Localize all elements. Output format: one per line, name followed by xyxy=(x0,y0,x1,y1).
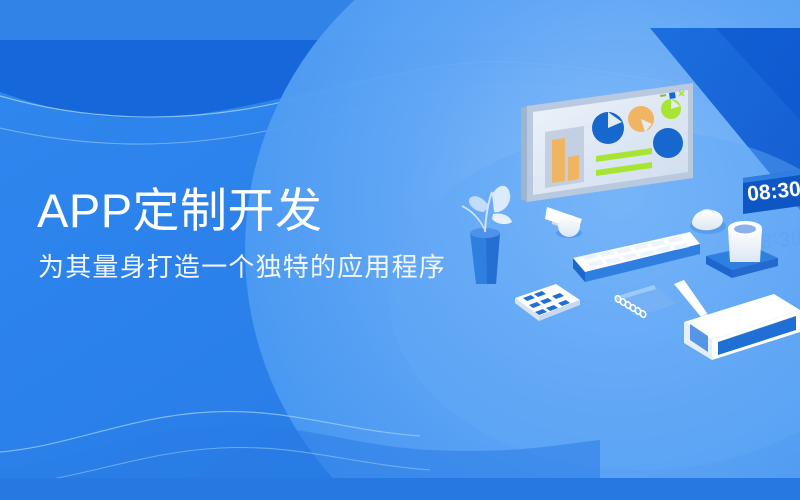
page-title: APP定制开发 xyxy=(37,183,446,238)
pen-body xyxy=(674,280,707,317)
bar-chart-panel xyxy=(545,126,584,188)
blue-pie-chart xyxy=(592,112,624,144)
monitor-bezel-edge xyxy=(521,106,527,202)
calculator[interactable] xyxy=(515,284,580,321)
spiral-notebook[interactable] xyxy=(614,285,676,318)
promo-banner: 08:30 08:30 xyxy=(0,0,800,500)
orange-pie-chart xyxy=(628,106,654,132)
keyboard[interactable] xyxy=(573,232,700,282)
sphere-body xyxy=(558,215,580,237)
page-subtitle: 为其量身打造一个独特的应用程序 xyxy=(38,252,446,283)
plant-leaf-left xyxy=(469,196,489,212)
long-box xyxy=(684,294,800,360)
plant-leaf-small xyxy=(492,213,512,224)
blue-circle-widget xyxy=(653,128,683,158)
plant-leaf-big xyxy=(492,186,510,213)
plant-pot-shade xyxy=(486,233,500,284)
mouse[interactable] xyxy=(690,209,726,234)
cup-rim-inner xyxy=(734,225,756,234)
mouse-body xyxy=(692,210,723,231)
desktop-monitor[interactable] xyxy=(521,83,693,232)
green-pie-chart xyxy=(661,99,681,119)
potted-plant xyxy=(462,186,512,284)
bar-chart-bar-2 xyxy=(568,155,579,181)
copy-block: APP定制开发 为其量身打造一个独特的应用程序 xyxy=(37,183,446,284)
maximize-icon[interactable] xyxy=(669,92,676,99)
plant-stem-main xyxy=(485,192,492,232)
bar-chart-bar-1 xyxy=(552,138,565,183)
